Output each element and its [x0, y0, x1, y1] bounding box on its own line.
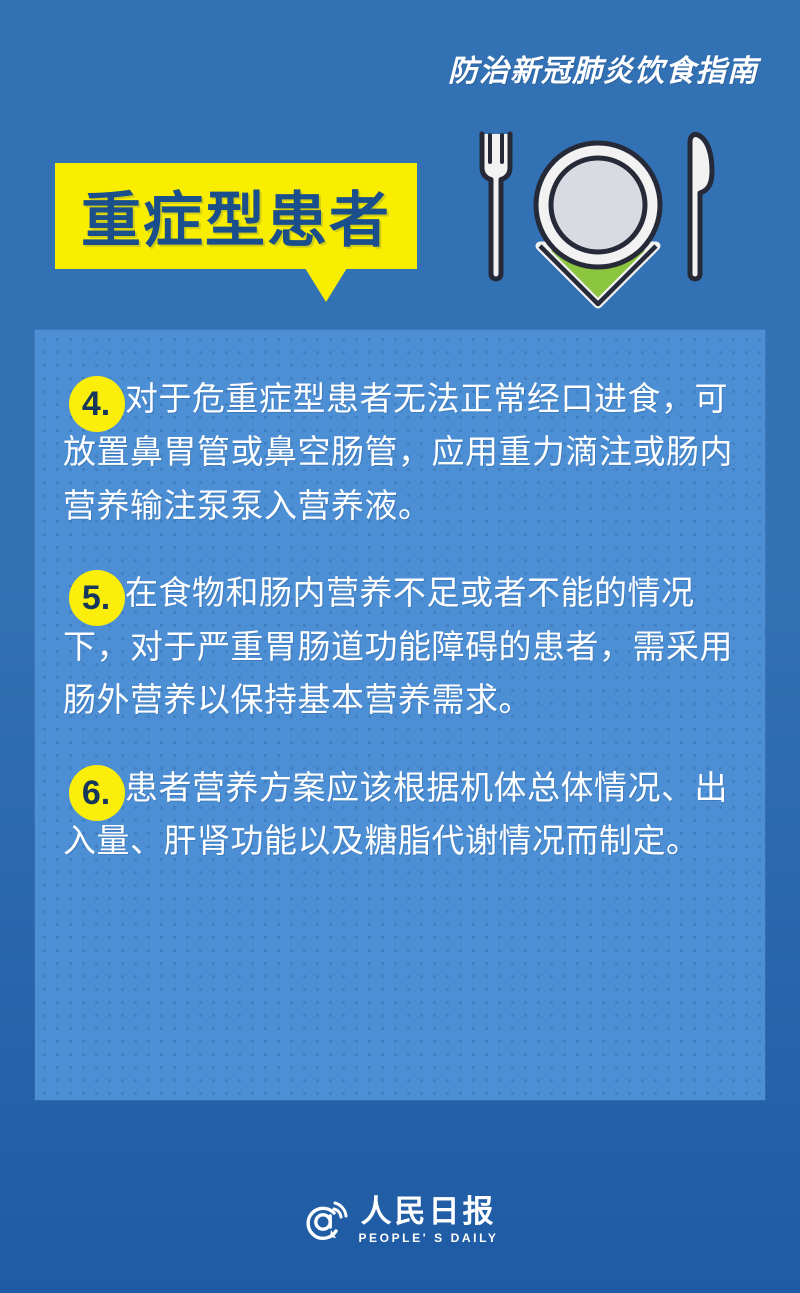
at-signal-logo-icon [301, 1197, 349, 1245]
footer-logo: 人民日报 PEOPLE' S DAILY [0, 1196, 800, 1245]
list-item: 6. 患者营养方案应该根据机体总体情况、出入量、肝肾功能以及糖脂代谢情况而制定。 [63, 761, 739, 868]
list-item: 5. 在食物和肠内营养不足或者不能的情况下，对于严重胃肠道功能障碍的患者，需采用… [63, 566, 739, 726]
knife-icon [690, 134, 712, 279]
item-number-badge: 6. [69, 765, 125, 821]
poster-root: 防治新冠肺炎饮食指南 重症型患者 [0, 0, 800, 1293]
page-title: 重症型患者 [55, 163, 417, 269]
item-number-badge: 4. [69, 376, 125, 432]
title-banner: 重症型患者 [55, 163, 417, 269]
item-text: 在食物和肠内营养不足或者不能的情况下，对于严重胃肠道功能障碍的患者，需采用肠外营… [63, 566, 739, 726]
footer-brand-cn: 人民日报 [360, 1196, 496, 1228]
title-banner-tail-icon [305, 268, 347, 302]
item-text: 对于危重症型患者无法正常经口进食，可放置鼻胃管或鼻空肠管，应用重力滴注或肠内营养… [63, 372, 739, 532]
item-number-badge: 5. [69, 570, 125, 626]
fork-icon [482, 134, 510, 279]
fork-plate-knife-icon [468, 128, 728, 328]
content-panel: 4. 对于危重症型患者无法正常经口进食，可放置鼻胃管或鼻空肠管，应用重力滴注或肠… [35, 330, 765, 1100]
footer-brand-en: PEOPLE' S DAILY [358, 1231, 498, 1245]
page-header-title: 防治新冠肺炎饮食指南 [448, 46, 758, 90]
guideline-list: 4. 对于危重症型患者无法正常经口进食，可放置鼻胃管或鼻空肠管，应用重力滴注或肠… [63, 372, 739, 902]
footer-logo-text: 人民日报 PEOPLE' S DAILY [358, 1196, 498, 1245]
plate-icon [536, 143, 660, 267]
list-item: 4. 对于危重症型患者无法正常经口进食，可放置鼻胃管或鼻空肠管，应用重力滴注或肠… [63, 372, 739, 532]
item-text: 患者营养方案应该根据机体总体情况、出入量、肝肾功能以及糖脂代谢情况而制定。 [63, 761, 739, 868]
